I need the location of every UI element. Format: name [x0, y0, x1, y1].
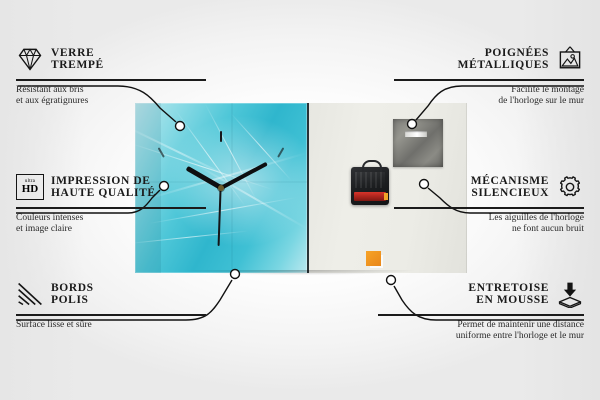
- hanger-slot: [405, 131, 427, 137]
- feature-title-line1: MÉCANISME: [471, 175, 549, 188]
- feature-title-line2: SILENCIEUX: [471, 187, 549, 200]
- feature-divider: [394, 79, 584, 81]
- feature-divider: [16, 314, 206, 316]
- mechanism-texture: [355, 172, 385, 188]
- feature-entretoise-en-mousse: ENTRETOISE EN MOUSSE Permet de maintenir…: [378, 277, 584, 343]
- feature-title-line2: TREMPÉ: [51, 59, 104, 72]
- hour-tick: [158, 147, 165, 158]
- feature-desc-line1: Facilite le montage: [394, 85, 584, 97]
- feature-title-line1: ENTRETOISE: [468, 282, 549, 295]
- clock-minute-hand: [220, 162, 268, 190]
- picture-hanger-icon: [556, 45, 584, 73]
- hanger-loop: [362, 160, 382, 172]
- diamond-icon: [16, 45, 44, 73]
- feature-divider: [378, 314, 584, 316]
- feature-desc-line1: Couleurs intenses: [16, 213, 206, 225]
- clock-center-cap: [218, 185, 224, 191]
- feature-mecanisme-silencieux: MÉCANISME SILENCIEUX Les aiguilles de l'…: [394, 170, 584, 236]
- feature-impression-hd: ultra HD IMPRESSION DE HAUTE QUALITÉ Cou…: [16, 170, 206, 236]
- feature-divider: [394, 207, 584, 209]
- feature-title-line1: VERRE: [51, 47, 104, 60]
- feature-desc-line2: uniforme entre l'horloge et le mur: [378, 331, 584, 343]
- feature-title-line1: POIGNÉES: [458, 47, 549, 60]
- ultra-hd-big-label: HD: [22, 184, 39, 195]
- feature-title-line1: IMPRESSION DE: [51, 175, 156, 188]
- feature-title-line2: POLIS: [51, 294, 94, 307]
- battery: [354, 192, 386, 201]
- feature-divider: [16, 79, 206, 81]
- hour-tick: [277, 147, 284, 158]
- diagonal-lines-icon: [16, 280, 44, 308]
- metal-hanger-plate: [393, 119, 443, 167]
- feature-desc-line2: et image claire: [16, 224, 206, 236]
- feature-title-line1: BORDS: [51, 282, 94, 295]
- feature-desc-line2: de l'horloge sur le mur: [394, 96, 584, 108]
- clock-second-hand: [218, 188, 222, 246]
- feature-desc-line1: Les aiguilles de l'horloge: [394, 213, 584, 225]
- feature-desc-line1: Surface lisse et sûre: [16, 320, 206, 332]
- gear-icon: [556, 173, 584, 201]
- feature-desc-line1: Résistant aux bris: [16, 85, 206, 97]
- feature-bords-polis: BORDS POLIS Surface lisse et sûre: [16, 277, 206, 331]
- feature-poignees-metalliques: POIGNÉES MÉTALLIQUES Facilite le montage…: [394, 42, 584, 108]
- clock-mechanism-box: [351, 167, 389, 205]
- feature-desc-line2: et aux égratignures: [16, 96, 206, 108]
- ultra-hd-icon: ultra HD: [16, 174, 44, 200]
- feature-desc-line2: ne font aucun bruit: [394, 224, 584, 236]
- feature-divider: [16, 207, 206, 209]
- foam-spacer: [366, 251, 381, 266]
- feature-desc-line1: Permet de maintenir une distance: [378, 320, 584, 332]
- feature-title-line2: EN MOUSSE: [468, 294, 549, 307]
- feature-title-line2: HAUTE QUALITÉ: [51, 187, 156, 200]
- feature-verre-trempe: VERRE TREMPÉ Résistant aux bris et aux é…: [16, 42, 206, 108]
- feature-title-line2: MÉTALLIQUES: [458, 59, 549, 72]
- infographic-canvas: VERRE TREMPÉ Résistant aux bris et aux é…: [0, 0, 600, 400]
- foam-spacer-icon: [556, 280, 584, 308]
- hour-tick: [220, 131, 222, 142]
